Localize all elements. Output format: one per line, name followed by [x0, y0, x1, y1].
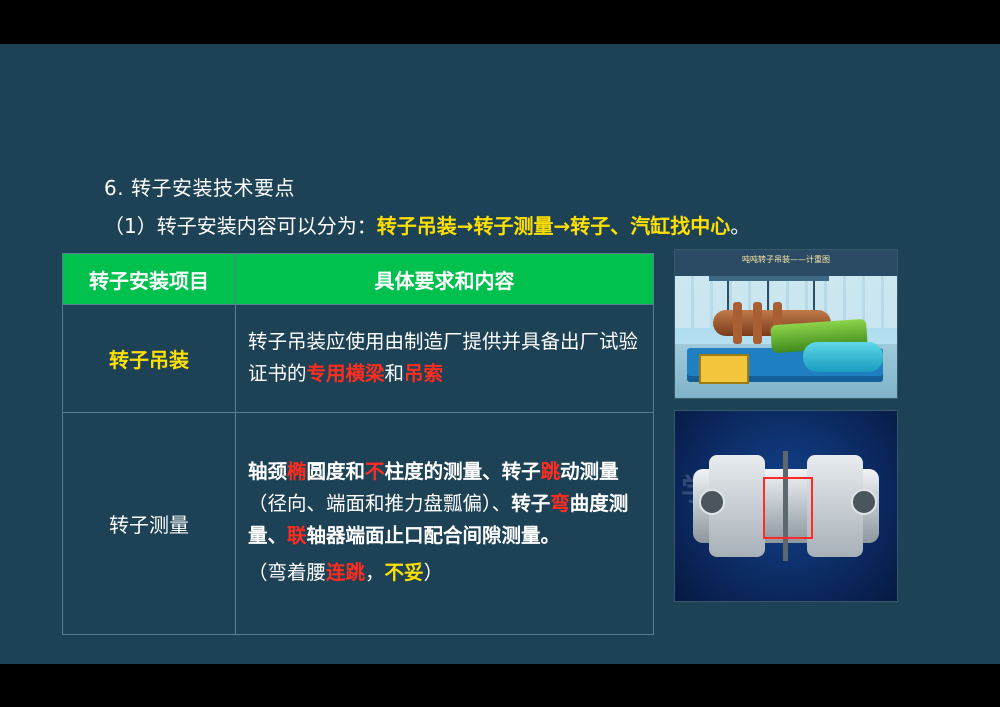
subtitle-step-3: 转子、汽缸找中心 [570, 214, 730, 238]
row-2-content-cell: 轴颈椭圆度和不柱度的测量、转子跳动测量（径向、端面和推力盘瓢偏）、转子弯曲度测量… [236, 413, 654, 635]
rotor-hoisting-illustration: 吨吨转子吊装——计重图 [674, 249, 898, 399]
bolt-hole-right-icon [851, 489, 877, 515]
subtitle-prefix: （1）转子安装内容可以分为： [104, 214, 377, 238]
mnemonic-prefix: （弯着腰 [248, 561, 326, 584]
table-header-item: 转子安装项目 [63, 254, 236, 305]
rotor-disc-2 [753, 302, 762, 344]
row-2-seg-3: 不 [365, 460, 385, 483]
subtitle-suffix: 。 [730, 214, 750, 238]
illustration-caption: 吨吨转子吊装——计重图 [742, 254, 830, 265]
requirements-table: 转子安装项目 具体要求和内容 转子吊装 转子吊装应使用由制造厂提供并具备出厂试验… [62, 253, 654, 635]
arrow-icon-1: → [457, 214, 474, 238]
cylinder-blue [803, 342, 883, 372]
table-row: 转子吊装 转子吊装应使用由制造厂提供并具备出厂试验证书的专用横梁和吊索 [63, 305, 654, 413]
row-1-text-a: 转子吊装应使用由制造厂提供并具备 [248, 330, 560, 353]
table-row: 转子测量 轴颈椭圆度和不柱度的测量、转子跳动测量（径向、端面和推力盘瓢偏）、转子… [63, 413, 654, 635]
letterbox-bottom [0, 664, 1000, 707]
subtitle-step-2: 转子测量 [474, 214, 554, 238]
row-2-seg-0: 轴颈 [248, 460, 287, 483]
row-2-seg-8: 转子 [511, 492, 550, 515]
subtitle-line: （1）转子安装内容可以分为：转子吊装→转子测量→转子、汽缸找中心。 [104, 210, 750, 239]
row-2-mnemonic: （弯着腰连跳，不妥） [248, 557, 641, 589]
mnemonic-yellow: 不妥 [385, 561, 424, 584]
row-2-seg-7: （径向、端面和推力盘瓢偏）、 [248, 492, 511, 515]
row-1-item-cell: 转子吊装 [63, 305, 236, 413]
mnemonic-red: 连跳 [326, 561, 365, 584]
slide-canvas: 6. 转子安装技术要点 （1）转子安装内容可以分为：转子吊装→转子测量→转子、汽… [0, 44, 1000, 664]
row-2-seg-1: 椭 [287, 460, 307, 483]
row-2-seg-11: 联 [287, 524, 307, 547]
row-1-highlight-2: 吊索 [404, 362, 443, 385]
subtitle-step-1: 转子吊装 [377, 214, 457, 238]
page-title: 6. 转子安装技术要点 [104, 172, 295, 201]
row-2-seg-12: 轴器端面止口配合间隙测量。 [307, 524, 561, 547]
bolt-hole-left-icon [699, 489, 725, 515]
row-1-highlight-1: 专用横梁 [307, 362, 385, 385]
row-2-seg-2: 圆度和 [307, 460, 366, 483]
row-1-text-c: 和 [385, 362, 405, 385]
row-2-item-cell: 转子测量 [63, 413, 236, 635]
row-2-seg-6: 动测量 [560, 460, 619, 483]
row-1-content-cell: 转子吊装应使用由制造厂提供并具备出厂试验证书的专用横梁和吊索 [236, 305, 654, 413]
row-1-item-label: 转子吊装 [109, 348, 189, 372]
table-header-row: 转子安装项目 具体要求和内容 [63, 254, 654, 305]
equipment-box-yellow [699, 354, 749, 384]
rotor-disc-1 [733, 302, 742, 344]
row-2-seg-4: 柱度的测量、转子 [385, 460, 541, 483]
mnemonic-mid: ， [365, 561, 385, 584]
arrow-icon-2: → [554, 214, 571, 238]
row-2-seg-5: 跳 [541, 460, 561, 483]
table-header-content: 具体要求和内容 [236, 254, 654, 305]
annotation-rectangle [763, 477, 813, 539]
coupling-photo: 学教育 [674, 410, 898, 602]
row-2-seg-9: 弯 [550, 492, 570, 515]
letterbox-top [0, 0, 1000, 44]
mnemonic-suffix: ） [424, 561, 444, 584]
